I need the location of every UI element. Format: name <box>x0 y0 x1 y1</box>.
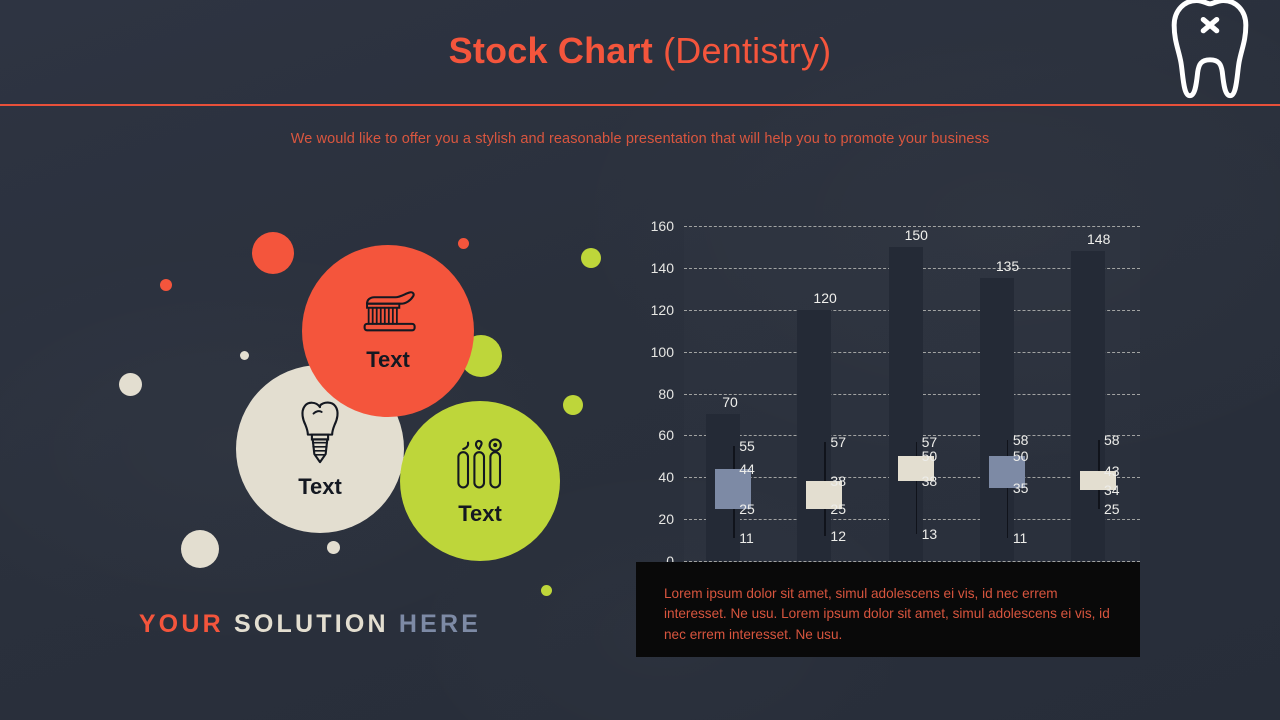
candle-open-label: 38 <box>830 473 846 489</box>
candle-low-label: 11 <box>1013 530 1028 546</box>
candle-open-label: 44 <box>739 461 755 477</box>
candle-close-label: 35 <box>1013 480 1029 496</box>
candle-close-label: 25 <box>739 501 755 517</box>
decor-dot-cream-d <box>327 541 340 554</box>
y-tick-label: 120 <box>651 302 674 318</box>
caption-text: Lorem ipsum dolor sit amet, simul adoles… <box>636 562 1140 645</box>
volume-column-label: 150 <box>905 227 928 243</box>
decor-dot-red-large <box>252 232 294 274</box>
decor-dot-green-c <box>563 395 583 415</box>
bubble-tools[interactable]: Text <box>400 401 560 561</box>
volume-column[interactable] <box>1071 251 1105 561</box>
candle-open-label: 50 <box>1013 448 1029 464</box>
y-tick-label: 100 <box>651 344 674 360</box>
page-title: Stock Chart (Dentistry) <box>0 30 1280 72</box>
y-tick-label: 40 <box>658 469 674 485</box>
title-divider <box>0 104 1280 106</box>
y-tick-label: 140 <box>651 260 674 276</box>
volume-column[interactable] <box>797 310 831 561</box>
plot-area: 7055442511120573825121505750381313558503… <box>684 226 1140 561</box>
dental-implant-icon <box>294 399 346 472</box>
toothbrush-icon <box>357 290 419 345</box>
decor-dot-red-small <box>160 279 172 291</box>
volume-column-label: 135 <box>996 258 1019 274</box>
candle-high-label: 57 <box>830 434 846 450</box>
decor-dot-green-a <box>581 248 601 268</box>
title-light: (Dentistry) <box>663 30 831 71</box>
candle-open-label: 43 <box>1104 463 1120 479</box>
stock-chart: 020406080100120140160 705544251112057382… <box>636 226 1140 571</box>
volume-column[interactable] <box>889 247 923 561</box>
dental-tools-icon <box>452 436 508 499</box>
decor-dot-red-tiny <box>458 238 469 249</box>
bubble-implant-label: Text <box>298 474 342 500</box>
tagline: YOUR SOLUTION HERE <box>0 610 620 639</box>
tagline-word-your: YOUR <box>139 610 224 638</box>
volume-column-label: 148 <box>1087 231 1110 247</box>
candle-wick <box>1007 440 1009 538</box>
candle-high-label: 55 <box>739 438 755 454</box>
candle-high-label: 58 <box>1013 432 1029 448</box>
volume-column[interactable] <box>980 278 1014 561</box>
candle-low-label: 11 <box>739 530 754 546</box>
tagline-word-here: HERE <box>399 610 481 638</box>
volume-column-label: 120 <box>813 290 836 306</box>
y-tick-label: 160 <box>651 218 674 234</box>
candle-high-label: 57 <box>922 434 938 450</box>
page-subtitle: We would like to offer you a stylish and… <box>0 131 1280 147</box>
candle-low-label: 13 <box>922 526 938 542</box>
candle-close-label: 25 <box>830 501 846 517</box>
y-axis: 020406080100120140160 <box>636 226 674 561</box>
caption-panel: Lorem ipsum dolor sit amet, simul adoles… <box>636 562 1140 657</box>
bubble-tools-label: Text <box>458 501 502 527</box>
decor-dot-cream-c <box>181 530 219 568</box>
y-tick-label: 20 <box>658 511 674 527</box>
decor-dot-green-d <box>541 585 552 596</box>
infographic-panel: Text Text Text <box>0 160 620 660</box>
tagline-word-solution: SOLUTION <box>234 610 389 638</box>
decor-dot-cream-b <box>119 373 142 396</box>
y-tick-label: 60 <box>658 427 674 443</box>
bubble-toothbrush-label: Text <box>366 347 410 373</box>
candle-low-label: 25 <box>1104 501 1120 517</box>
bubble-toothbrush[interactable]: Text <box>302 245 474 417</box>
y-tick-label: 80 <box>658 386 674 402</box>
candle-low-label: 12 <box>830 528 846 544</box>
candle-close-label: 38 <box>922 473 938 489</box>
candle-high-label: 58 <box>1104 432 1120 448</box>
title-strong: Stock Chart <box>449 30 653 71</box>
decor-dot-cream-a <box>240 351 249 360</box>
candle-open-label: 50 <box>922 448 938 464</box>
candle-close-label: 34 <box>1104 482 1120 498</box>
volume-column-label: 70 <box>722 394 738 410</box>
